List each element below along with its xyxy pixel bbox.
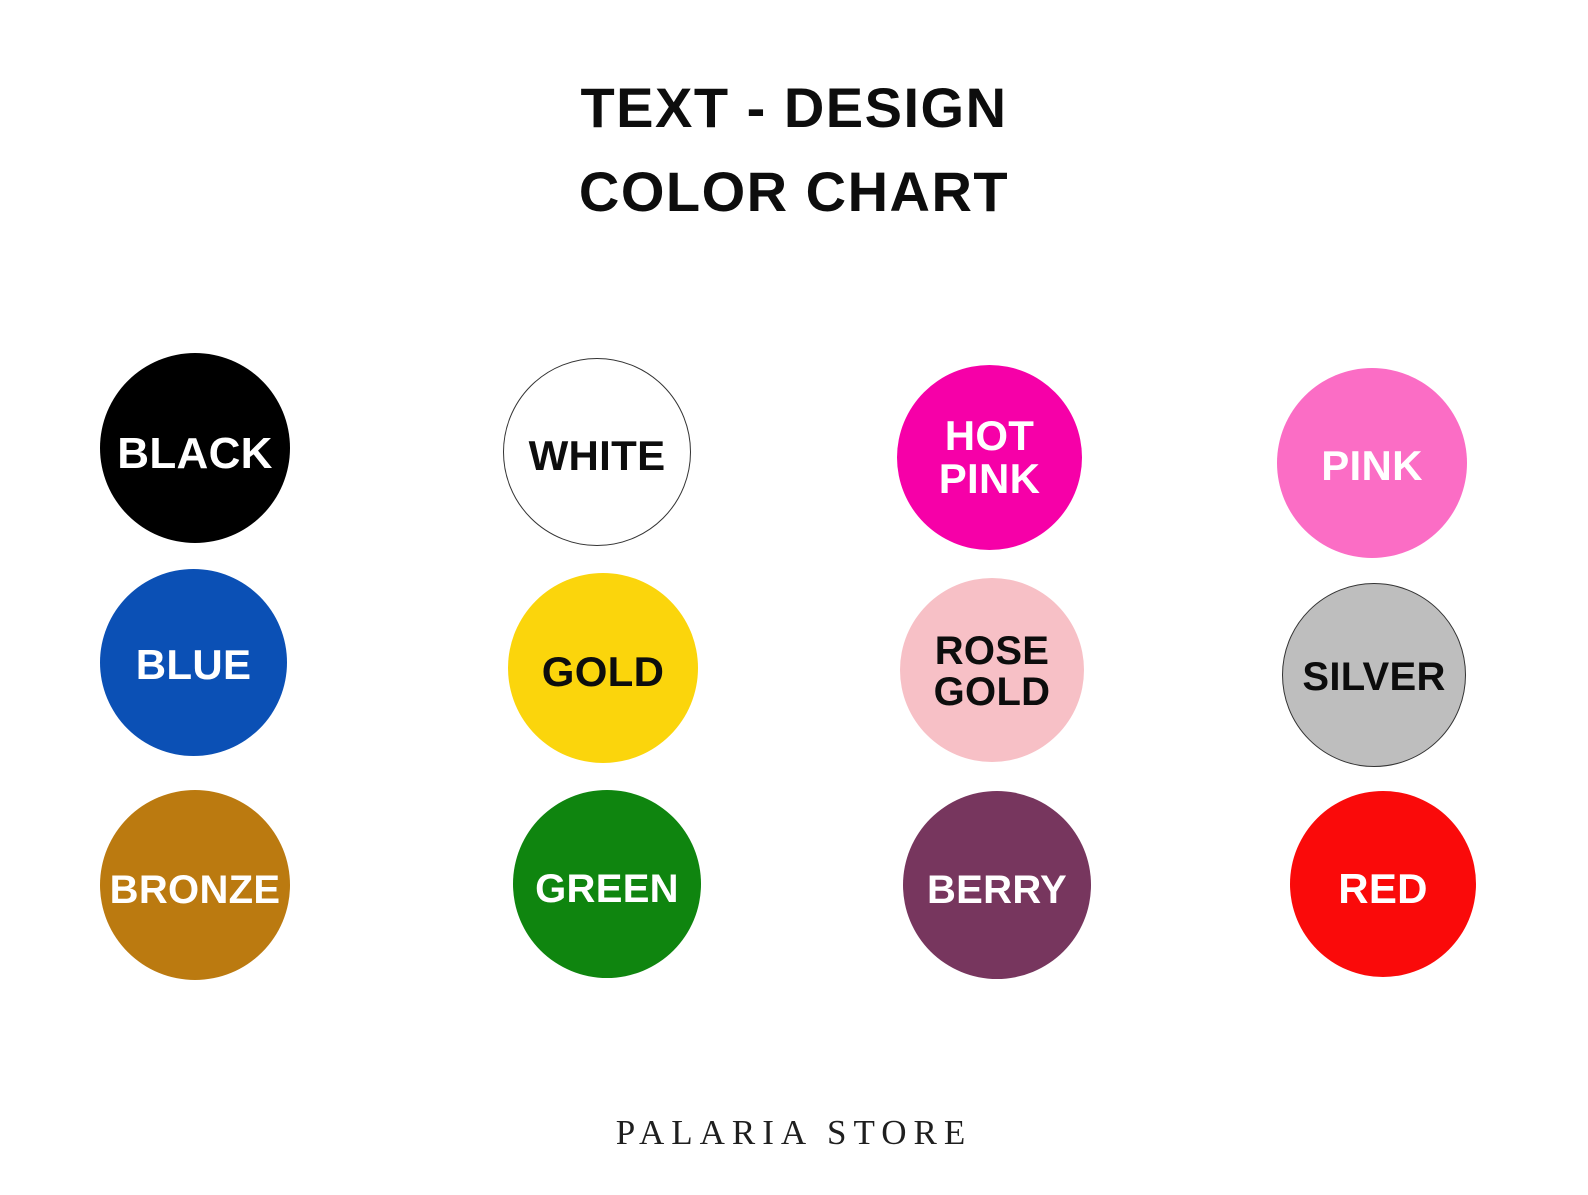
color-swatch-berry[interactable]: BERRY xyxy=(903,791,1091,979)
color-swatch-green[interactable]: GREEN xyxy=(513,790,701,978)
color-swatch-label-bronze: BRONZE xyxy=(110,870,281,911)
color-swatch-label-gold: GOLD xyxy=(542,651,665,694)
color-swatch-label-red: RED xyxy=(1338,868,1428,911)
color-swatch-label-green: GREEN xyxy=(535,869,679,910)
color-swatch-label-blue: BLUE xyxy=(136,644,252,687)
color-swatch-bronze[interactable]: BRONZE xyxy=(100,790,290,980)
color-swatch-label-hot-pink: HOT PINK xyxy=(939,415,1041,501)
color-swatch-red[interactable]: RED xyxy=(1290,791,1476,977)
color-swatch-pink[interactable]: PINK xyxy=(1277,368,1467,558)
brand-footer: PALARIA STORE xyxy=(0,1113,1588,1153)
color-swatch-grid: BLACKWHITEHOT PINKPINKBLUEGOLDROSE GOLDS… xyxy=(0,0,1588,1195)
color-swatch-label-white: WHITE xyxy=(529,435,666,478)
color-swatch-label-berry: BERRY xyxy=(927,870,1067,911)
color-swatch-silver[interactable]: SILVER xyxy=(1282,583,1466,767)
color-swatch-label-rose-gold: ROSE GOLD xyxy=(934,631,1051,713)
color-swatch-hot-pink[interactable]: HOT PINK xyxy=(897,365,1082,550)
color-swatch-label-silver: SILVER xyxy=(1302,657,1445,698)
color-swatch-white[interactable]: WHITE xyxy=(503,358,691,546)
color-swatch-label-black: BLACK xyxy=(117,432,272,477)
color-swatch-label-pink: PINK xyxy=(1321,445,1423,488)
color-swatch-rose-gold[interactable]: ROSE GOLD xyxy=(900,578,1084,762)
color-swatch-blue[interactable]: BLUE xyxy=(100,569,287,756)
color-swatch-black[interactable]: BLACK xyxy=(100,353,290,543)
color-swatch-gold[interactable]: GOLD xyxy=(508,573,698,763)
